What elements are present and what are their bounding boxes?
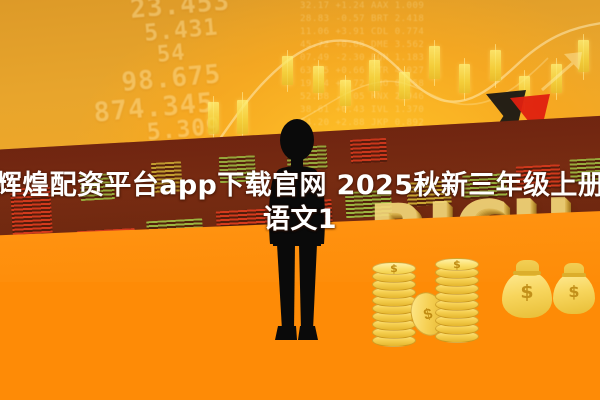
coin-dollar-symbol: $	[435, 258, 479, 271]
coin-dollar-symbol: $	[372, 262, 416, 275]
coin-stack: $	[372, 262, 416, 348]
promo-banner: 23.453 5.431 54 98.675 874.345 5.309 2.3…	[0, 0, 600, 400]
money-bag-dollar-symbol: $	[553, 282, 595, 301]
money-bag: $	[553, 260, 595, 314]
person-silhouette	[258, 118, 336, 358]
money-bag: $	[502, 256, 552, 318]
coin-stack: $	[435, 258, 479, 344]
money-bag-dollar-symbol: $	[502, 281, 552, 303]
